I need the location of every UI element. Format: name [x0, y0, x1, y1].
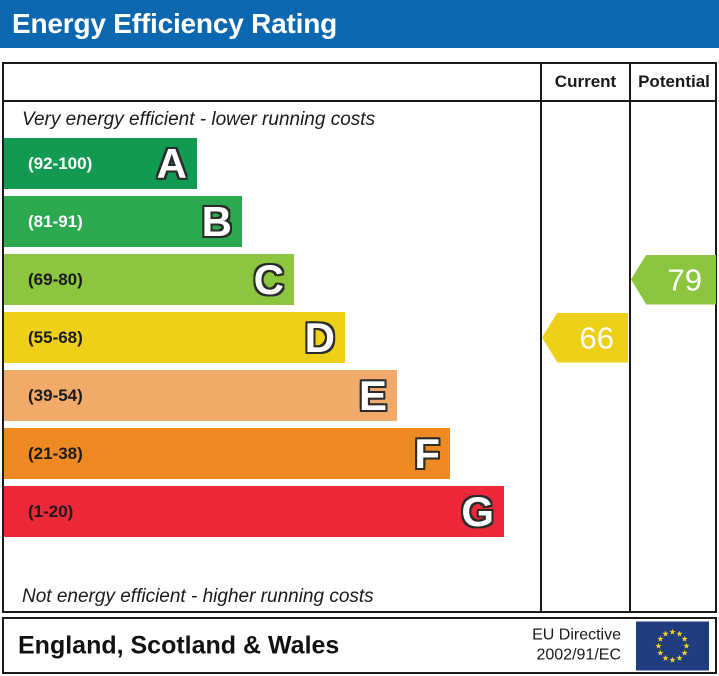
band-letter-e: E — [359, 375, 387, 417]
eu-flag-icon — [636, 621, 709, 670]
energy-band-g: (1-20)G — [4, 486, 504, 537]
chart-title-bar: Energy Efficiency Rating — [0, 0, 719, 48]
band-letter-g: G — [461, 491, 494, 533]
directive-line-1: EU Directive — [532, 626, 621, 643]
band-range-c: (69-80) — [28, 270, 83, 290]
energy-efficiency-rating-chart: Energy Efficiency Rating Current Potenti… — [0, 0, 719, 676]
band-letter-b: B — [202, 201, 232, 243]
band-letter-a: A — [157, 143, 187, 185]
band-letter-d: D — [305, 317, 335, 359]
band-range-g: (1-20) — [28, 502, 73, 522]
band-range-e: (39-54) — [28, 386, 83, 406]
chart-footer: England, Scotland & Wales EU Directive 2… — [2, 617, 717, 674]
directive-line-2: 2002/91/EC — [536, 647, 621, 664]
footer-directive-label: EU Directive 2002/91/EC — [532, 625, 621, 666]
column-header-potential: Potential — [631, 64, 717, 100]
caption-efficient: Very energy efficient - lower running co… — [22, 109, 375, 131]
energy-band-d: (55-68)D — [4, 312, 345, 363]
band-range-b: (81-91) — [28, 212, 83, 232]
current-column-divider — [540, 64, 542, 611]
rating-arrow-current: 66 — [542, 313, 628, 363]
energy-band-b: (81-91)B — [4, 196, 242, 247]
rating-value-current: 66 — [580, 322, 614, 353]
rating-value-potential: 79 — [668, 264, 702, 295]
band-range-d: (55-68) — [28, 328, 83, 348]
band-range-f: (21-38) — [28, 444, 83, 464]
page-title: Energy Efficiency Rating — [12, 8, 337, 40]
column-header-current: Current — [542, 64, 629, 100]
band-list: (92-100)A(81-91)B(69-80)C(55-68)D(39-54)… — [4, 138, 540, 578]
potential-column-divider — [629, 64, 631, 611]
rating-table: Current Potential Very energy efficient … — [2, 62, 717, 613]
rating-arrow-potential: 79 — [631, 255, 716, 305]
band-range-a: (92-100) — [28, 154, 92, 174]
energy-band-c: (69-80)C — [4, 254, 294, 305]
header-divider — [4, 100, 715, 102]
footer-region-label: England, Scotland & Wales — [18, 631, 339, 660]
band-letter-f: F — [414, 433, 440, 475]
caption-inefficient: Not energy efficient - higher running co… — [22, 586, 374, 608]
band-letter-c: C — [254, 259, 284, 301]
energy-band-a: (92-100)A — [4, 138, 197, 189]
energy-band-f: (21-38)F — [4, 428, 450, 479]
energy-band-e: (39-54)E — [4, 370, 397, 421]
